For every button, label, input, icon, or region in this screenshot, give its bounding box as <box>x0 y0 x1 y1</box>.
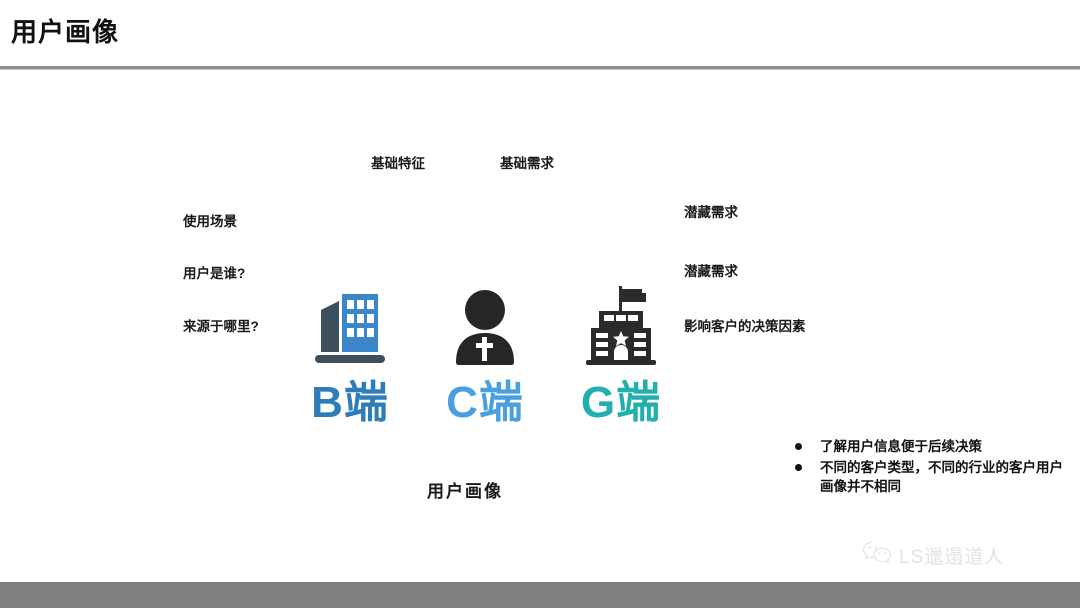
government-building-icon <box>541 282 701 368</box>
footer-bar <box>0 582 1080 608</box>
left-label-usage-scenario: 使用场景 <box>183 212 237 231</box>
persona-column-g: G端 <box>541 282 701 428</box>
top-label-basic-traits: 基础特征 <box>371 154 425 173</box>
right-label-hidden-needs-1: 潜藏需求 <box>684 203 738 222</box>
bullet-text: 了解用户信息便于后续决策 <box>820 437 982 456</box>
watermark: LS邋遢道人 <box>862 540 1004 570</box>
bullet-dot-icon <box>795 464 802 471</box>
wechat-icon <box>862 540 892 570</box>
top-label-basic-needs: 基础需求 <box>500 154 554 173</box>
center-caption: 用户画像 <box>427 477 503 502</box>
bullet-text: 不同的客户类型，不同的行业的客户用户画像并不相同 <box>820 458 1065 496</box>
persona-caption-g: G端 <box>541 378 701 428</box>
bullet-dot-icon <box>795 443 802 450</box>
right-label-decision-factors: 影响客户的决策因素 <box>684 317 834 336</box>
list-item: 了解用户信息便于后续决策 <box>795 437 1065 456</box>
left-label-where-from: 来源于哪里? <box>183 317 259 336</box>
page-title: 用户画像 <box>11 12 119 49</box>
slide-canvas: 用户画像 基础特征 基础需求 使用场景 用户是谁? 来源于哪里? 潜藏需求 潜藏… <box>0 0 1080 608</box>
list-item: 不同的客户类型，不同的行业的客户用户画像并不相同 <box>795 458 1065 496</box>
left-label-who-is-user: 用户是谁? <box>183 264 245 283</box>
right-label-hidden-needs-2: 潜藏需求 <box>684 262 738 281</box>
bullet-list: 了解用户信息便于后续决策 不同的客户类型，不同的行业的客户用户画像并不相同 <box>795 437 1065 498</box>
title-divider <box>0 66 1080 70</box>
watermark-text: LS邋遢道人 <box>899 542 1004 569</box>
